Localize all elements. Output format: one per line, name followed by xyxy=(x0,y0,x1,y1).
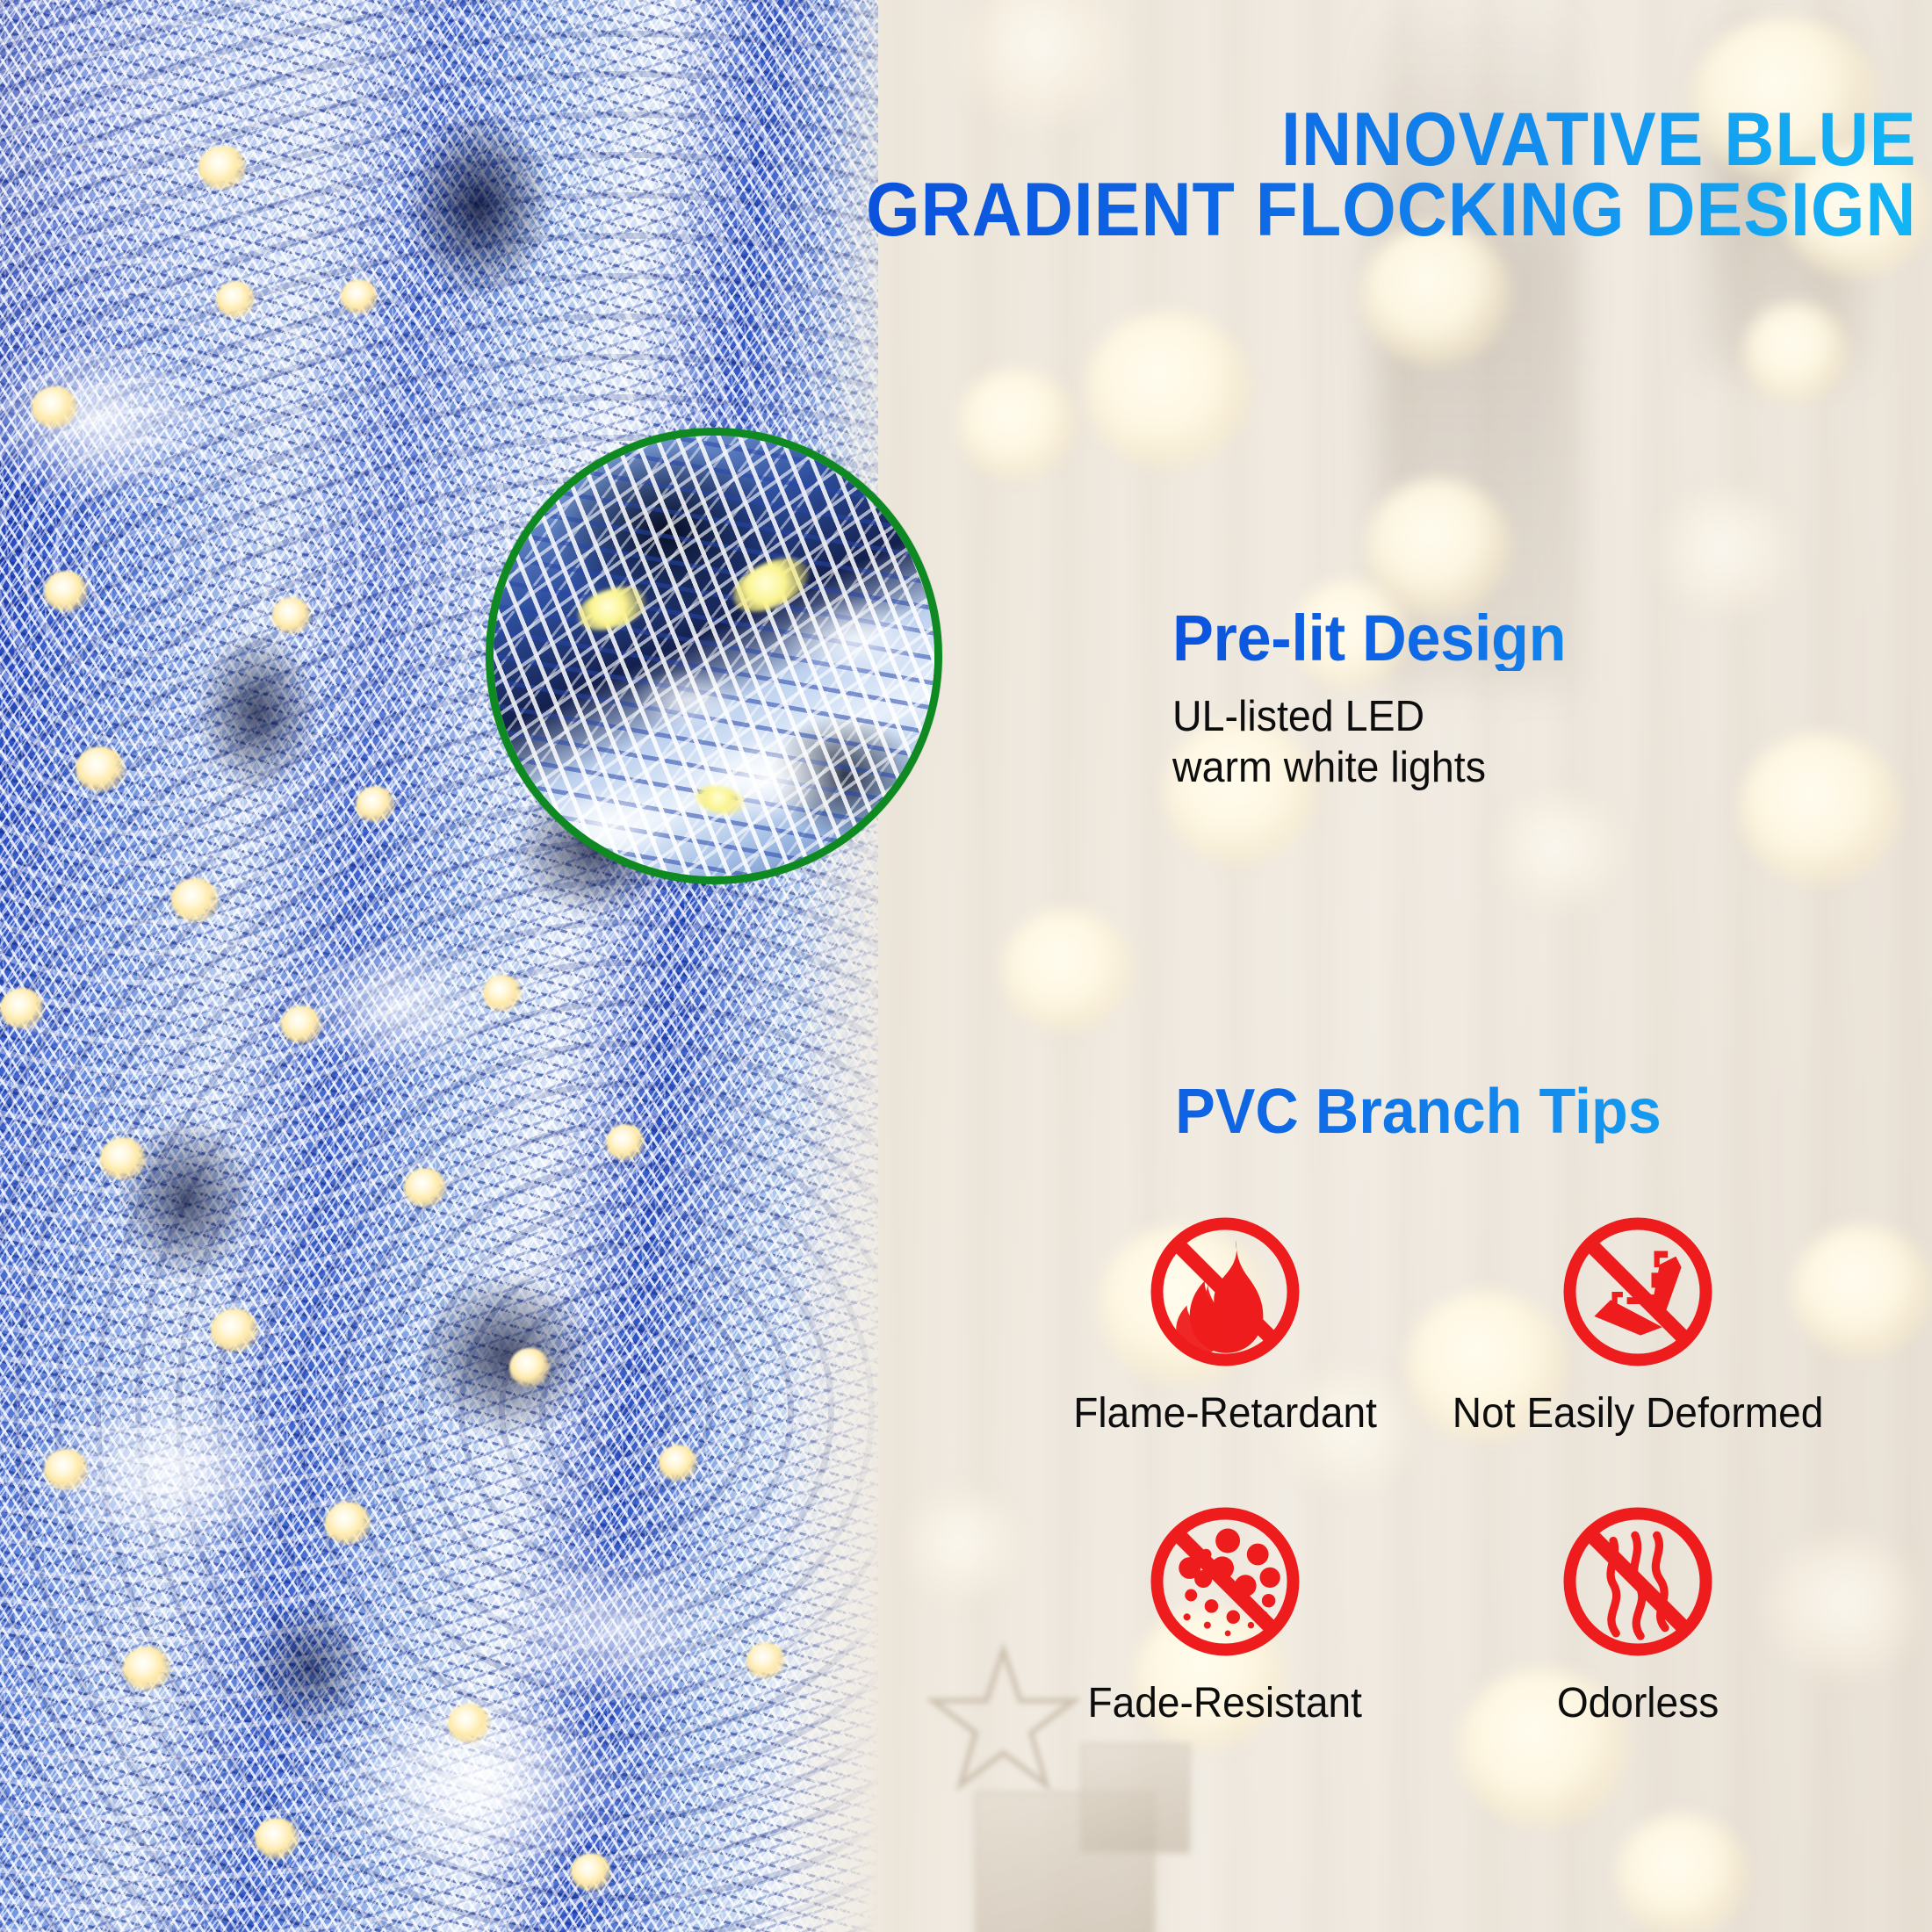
tree-light-bulb xyxy=(404,1168,446,1207)
tree-light-bulb xyxy=(483,975,522,1012)
tree-light-bulb xyxy=(606,1124,645,1161)
tree-light-bulb xyxy=(32,386,77,429)
feature-pre-lit-subtitle: UL-listed LED warm white lights xyxy=(1172,692,1856,794)
tree-light-bulb xyxy=(659,1445,697,1481)
badge-label: Odorless xyxy=(1557,1683,1719,1725)
tree-light-bulb xyxy=(255,1818,299,1859)
badge-grid: Flame-Retardant xyxy=(1032,1210,1831,1725)
tree-light-bulb xyxy=(44,571,88,612)
badge-not-easily-deformed: Not Easily Deformed xyxy=(1445,1210,1831,1435)
tree-light-bulb xyxy=(100,1137,146,1180)
tree-light-bulb xyxy=(272,597,311,634)
closeup-inset-photo xyxy=(486,428,942,884)
feature-pre-lit-subtitle-line-2: warm white lights xyxy=(1172,743,1856,794)
feature-panel: INNOVATIVE BLUE GRADIENT FLOCKING DESIGN… xyxy=(905,0,1932,1932)
badge-flame-retardant: Flame-Retardant xyxy=(1032,1210,1418,1435)
feature-pvc: PVC Branch Tips xyxy=(905,1080,1932,1143)
feature-pre-lit: Pre-lit Design UL-listed LED warm white … xyxy=(1172,606,1892,794)
tree-light-bulb xyxy=(171,878,219,922)
tree-light-bulb xyxy=(746,1642,785,1679)
badge-label: Fade-Resistant xyxy=(1088,1683,1362,1725)
tree-light-bulb xyxy=(448,1704,490,1743)
no-odor-icon xyxy=(1556,1500,1719,1663)
badge-label: Not Easily Deformed xyxy=(1453,1393,1824,1435)
tree-light-bulb xyxy=(76,746,125,792)
tree-light-bulb xyxy=(509,1348,550,1387)
page-title: INNOVATIVE BLUE GRADIENT FLOCKING DESIGN xyxy=(866,105,1916,246)
tree-light-bulb xyxy=(0,988,44,1029)
no-deform-icon xyxy=(1556,1210,1719,1373)
tree-light-bulb xyxy=(356,786,394,823)
no-fade-icon xyxy=(1143,1500,1307,1663)
infographic-canvas: INNOVATIVE BLUE GRADIENT FLOCKING DESIGN… xyxy=(0,0,1932,1932)
tree-light-bulb xyxy=(123,1647,170,1690)
tree-light-bulb xyxy=(198,146,246,190)
headline-line-2: GRADIENT FLOCKING DESIGN xyxy=(866,176,1916,246)
no-flame-icon xyxy=(1143,1210,1307,1373)
tree-light-bulb xyxy=(571,1853,611,1892)
feature-pre-lit-title: Pre-lit Design xyxy=(1172,606,1856,671)
feature-pre-lit-subtitle-line-1: UL-listed LED xyxy=(1172,692,1856,743)
badge-label: Flame-Retardant xyxy=(1073,1393,1377,1435)
feature-pvc-title: PVC Branch Tips xyxy=(930,1080,1907,1143)
christmas-tree-photo xyxy=(0,0,878,1932)
tree-light-bulb xyxy=(325,1502,371,1545)
badge-fade-resistant: Fade-Resistant xyxy=(1032,1500,1418,1725)
tree-light-bulb xyxy=(281,1006,321,1044)
badge-odorless: Odorless xyxy=(1445,1500,1831,1725)
tree-light-bulb xyxy=(211,1308,258,1352)
headline-line-1: INNOVATIVE BLUE xyxy=(866,105,1916,176)
tree-light-bulb xyxy=(216,281,255,318)
tree-light-bulb xyxy=(44,1449,88,1490)
tree-light-bulb xyxy=(341,279,378,314)
